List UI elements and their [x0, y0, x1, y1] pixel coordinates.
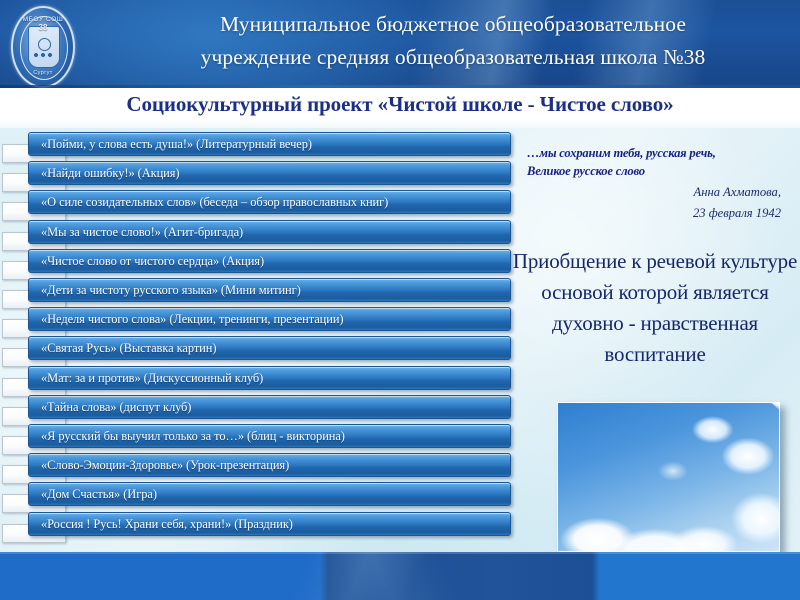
- sky-clouds-sunrays-photo: [557, 402, 780, 552]
- school-title-line1: Муниципальное бюджетное общеобразователь…: [220, 12, 686, 36]
- activity-row[interactable]: «Россия ! Русь! Храни себя, храни!» (Пра…: [0, 512, 516, 542]
- activity-label: «Неделя чистого слова» (Лекции, тренинги…: [29, 308, 344, 330]
- activity-bar[interactable]: «Тайна слова» (диспут клуб): [28, 395, 511, 419]
- slide-header: МБОУ СОШ 38 Сургут Муниципальное бюджетн…: [0, 0, 800, 88]
- activity-label: «Дом Счастья» (Игра): [29, 483, 157, 505]
- activity-label: «Пойми, у слова есть душа!» (Литературны…: [29, 133, 312, 155]
- activity-row[interactable]: «Тайна слова» (диспут клуб): [0, 395, 516, 425]
- quote-line-2: Великое русское слово: [527, 162, 795, 180]
- quote-line-1: …мы сохраним тебя, русская речь,: [527, 144, 795, 162]
- activity-label: «Я русский бы выучил только за то…» (бли…: [29, 425, 345, 447]
- quote-date: 23 февраля 1942: [527, 205, 795, 222]
- activity-label: «Слово-Эмоции-Здоровье» (Урок-презентаци…: [29, 454, 289, 476]
- activity-label: «Россия ! Русь! Храни себя, храни!» (Пра…: [29, 513, 293, 535]
- project-statement: Приобщение к речевой культуре основой ко…: [510, 246, 800, 370]
- activity-row[interactable]: «Слово-Эмоции-Здоровье» (Урок-презентаци…: [0, 453, 516, 483]
- activity-row[interactable]: «Я русский бы выучил только за то…» (бли…: [0, 424, 516, 454]
- activity-row[interactable]: «Святая Русь» (Выставка картин): [0, 336, 516, 366]
- slide-canvas: МБОУ СОШ 38 Сургут Муниципальное бюджетн…: [0, 0, 800, 600]
- emblem-top-text: МБОУ СОШ: [13, 16, 73, 23]
- activity-bar[interactable]: «Слово-Эмоции-Здоровье» (Урок-презентаци…: [28, 453, 511, 477]
- school-title-line2: учреждение средняя общеобразовательная ш…: [118, 41, 788, 74]
- activity-label: «Дети за чистоту русского языка» (Мини м…: [29, 279, 301, 301]
- activity-label: «Мат: за и против» (Дискуссионный клуб): [29, 367, 263, 389]
- activity-label: «Тайна слова» (диспут клуб): [29, 396, 191, 418]
- activity-row[interactable]: «Дом Счастья» (Игра): [0, 482, 516, 512]
- activity-row[interactable]: «Мы за чистое слово!» (Агит-бригада): [0, 220, 516, 250]
- activity-row[interactable]: «О силе созидательных слов» (беседа – об…: [0, 190, 516, 220]
- activity-bar[interactable]: «Мы за чистое слово!» (Агит-бригада): [28, 220, 511, 244]
- activity-label: «Чистое слово от чистого сердца» (Акция): [29, 250, 264, 272]
- school-emblem-icon: МБОУ СОШ 38 Сургут: [9, 3, 75, 87]
- school-title: Муниципальное бюджетное общеобразователь…: [118, 8, 788, 74]
- quote-block: …мы сохраним тебя, русская речь, Великое…: [527, 144, 795, 222]
- emblem-outer-ring: МБОУ СОШ 38 Сургут: [11, 6, 75, 88]
- emblem-shield-icon: [28, 26, 60, 68]
- activity-bar[interactable]: «Дети за чистоту русского языка» (Мини м…: [28, 278, 511, 302]
- emblem-number: 38: [13, 23, 73, 32]
- activities-list: «Пойми, у слова есть душа!» (Литературны…: [0, 132, 520, 552]
- activity-bar[interactable]: «Чистое слово от чистого сердца» (Акция): [28, 249, 511, 273]
- activity-bar[interactable]: «Неделя чистого слова» (Лекции, тренинги…: [28, 307, 511, 331]
- project-subtitle: Социокультурный проект «Чистой школе - Ч…: [0, 92, 800, 117]
- activity-label: «Найди ошибку!» (Акция): [29, 162, 179, 184]
- activity-bar[interactable]: «Пойми, у слова есть душа!» (Литературны…: [28, 132, 511, 156]
- emblem-bottom-text: Сургут: [13, 70, 73, 76]
- activity-label: «Святая Русь» (Выставка картин): [29, 337, 216, 359]
- activity-row[interactable]: «Чистое слово от чистого сердца» (Акция): [0, 249, 516, 279]
- activity-label: «О силе созидательных слов» (беседа – об…: [29, 191, 388, 213]
- activity-row[interactable]: «Дети за чистоту русского языка» (Мини м…: [0, 278, 516, 308]
- activity-bar[interactable]: «Я русский бы выучил только за то…» (бли…: [28, 424, 511, 448]
- activity-bar[interactable]: «О силе созидательных слов» (беседа – об…: [28, 190, 511, 214]
- activity-bar[interactable]: «Найди ошибку!» (Акция): [28, 161, 511, 185]
- activity-bar[interactable]: «Святая Русь» (Выставка картин): [28, 336, 511, 360]
- activity-row[interactable]: «Найди ошибку!» (Акция): [0, 161, 516, 191]
- quote-author: Анна Ахматова,: [527, 184, 795, 201]
- slide-footer: [0, 552, 800, 600]
- activity-row[interactable]: «Пойми, у слова есть душа!» (Литературны…: [0, 132, 516, 162]
- activity-row[interactable]: «Мат: за и против» (Дискуссионный клуб): [0, 366, 516, 396]
- activity-bar[interactable]: «Дом Счастья» (Игра): [28, 482, 511, 506]
- activity-label: «Мы за чистое слово!» (Агит-бригада): [29, 221, 243, 243]
- activity-bar[interactable]: «Россия ! Русь! Храни себя, храни!» (Пра…: [28, 512, 511, 536]
- activity-bar[interactable]: «Мат: за и против» (Дискуссионный клуб): [28, 366, 511, 390]
- activity-row[interactable]: «Неделя чистого слова» (Лекции, тренинги…: [0, 307, 516, 337]
